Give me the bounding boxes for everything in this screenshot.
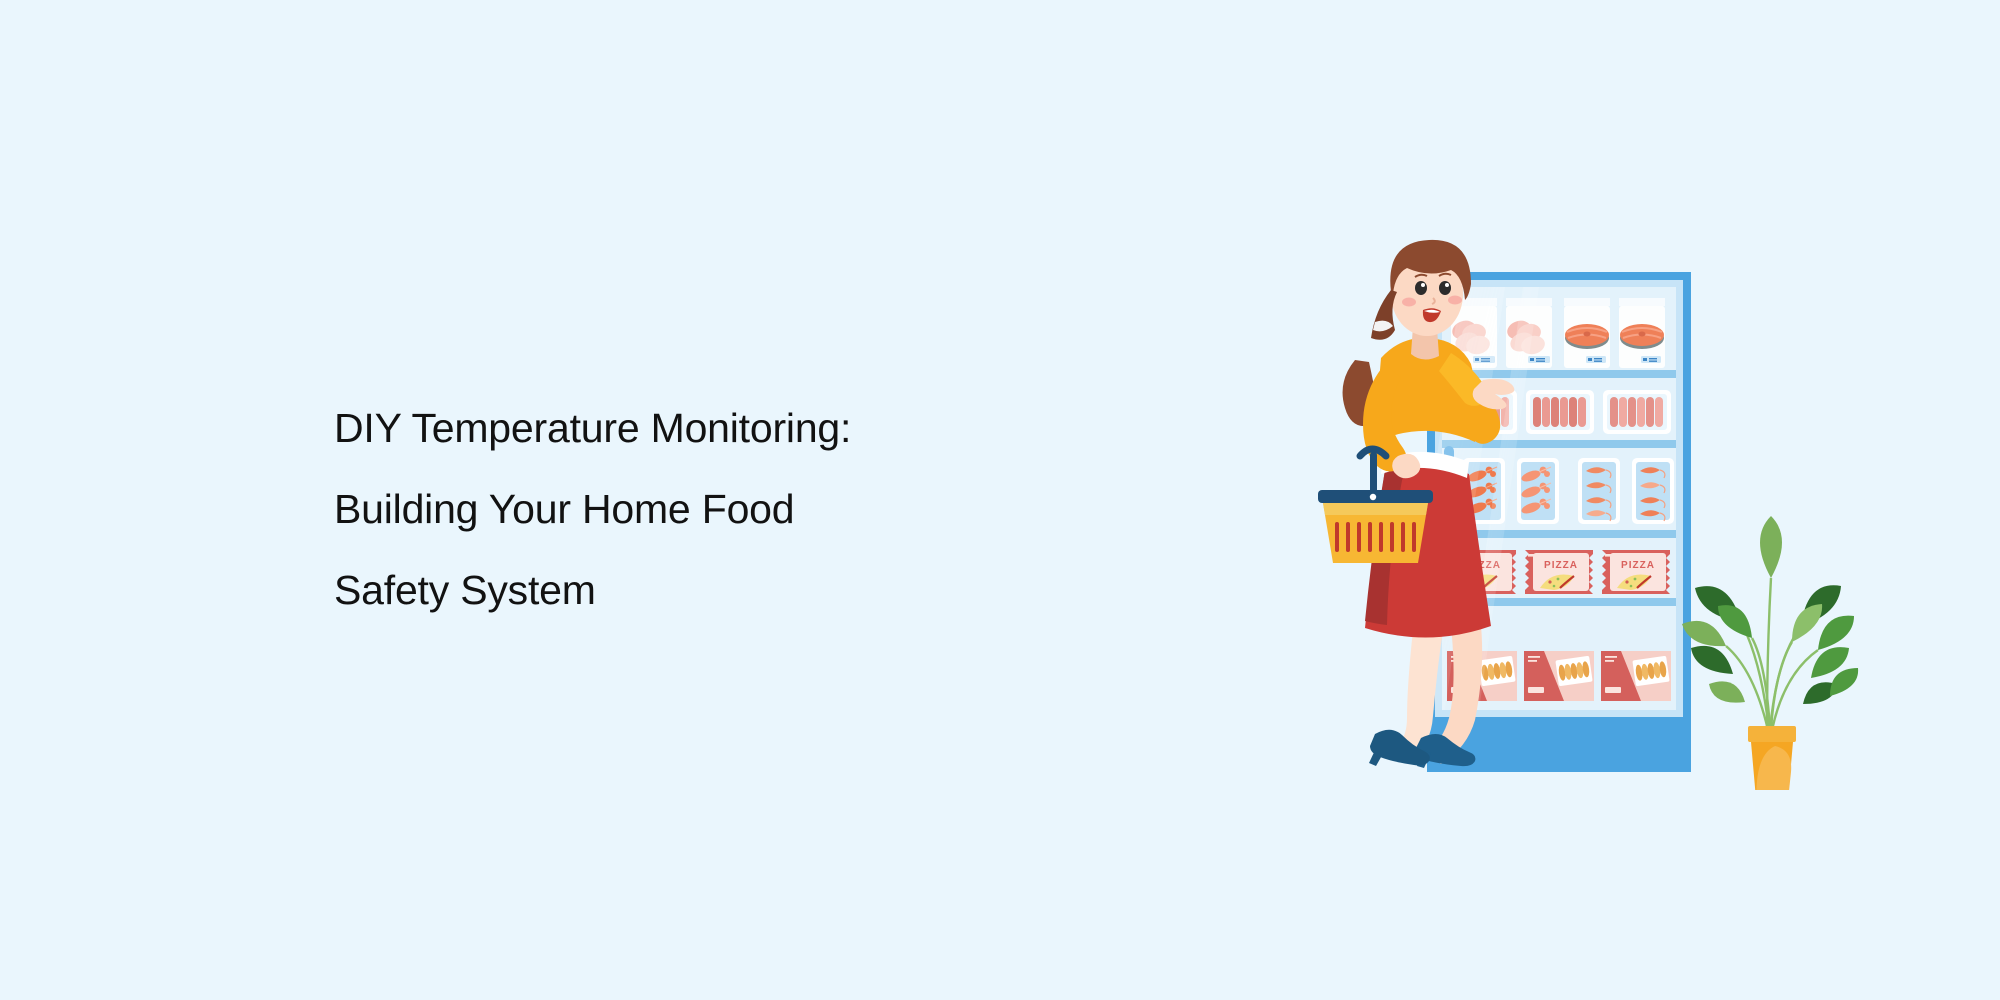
basket-handle-post bbox=[1370, 452, 1377, 494]
shrimp-pack bbox=[1632, 458, 1674, 524]
pizza-box: PIZZA bbox=[1525, 550, 1593, 594]
sausage-tray bbox=[1603, 390, 1671, 434]
nugget-box bbox=[1524, 651, 1594, 701]
hand-left bbox=[1392, 454, 1420, 479]
shrimp-pack bbox=[1578, 458, 1620, 524]
hero-illustration: PIZZA PIZZA bbox=[1255, 230, 1875, 790]
page-title-line-3: Safety System bbox=[334, 550, 1094, 631]
banner-canvas: DIY Temperature Monitoring: Building You… bbox=[0, 0, 2000, 1000]
page-title-line-2: Building Your Home Food bbox=[334, 469, 1094, 550]
nugget-box bbox=[1601, 651, 1671, 701]
pot-rim bbox=[1748, 726, 1796, 742]
pizza-box: PIZZA bbox=[1602, 550, 1670, 594]
svg-text:PIZZA: PIZZA bbox=[1621, 560, 1655, 571]
svg-text:PIZZA: PIZZA bbox=[1544, 560, 1578, 571]
lobster-pack bbox=[1517, 458, 1559, 524]
hair-side bbox=[1371, 290, 1397, 340]
sausage-tray bbox=[1526, 390, 1594, 434]
page-title-line-1: DIY Temperature Monitoring: bbox=[334, 388, 1094, 469]
salmon-steak-pack bbox=[1564, 298, 1610, 368]
cheek-right bbox=[1448, 296, 1462, 305]
salmon-steak-pack bbox=[1619, 298, 1665, 368]
page-title: DIY Temperature Monitoring: Building You… bbox=[334, 388, 1094, 631]
basket-body-top bbox=[1323, 503, 1428, 515]
cheek-left bbox=[1402, 298, 1416, 307]
basket-rivet bbox=[1370, 494, 1376, 500]
potted-plant bbox=[1682, 516, 1858, 790]
plant-stems bbox=[1726, 578, 1818, 730]
